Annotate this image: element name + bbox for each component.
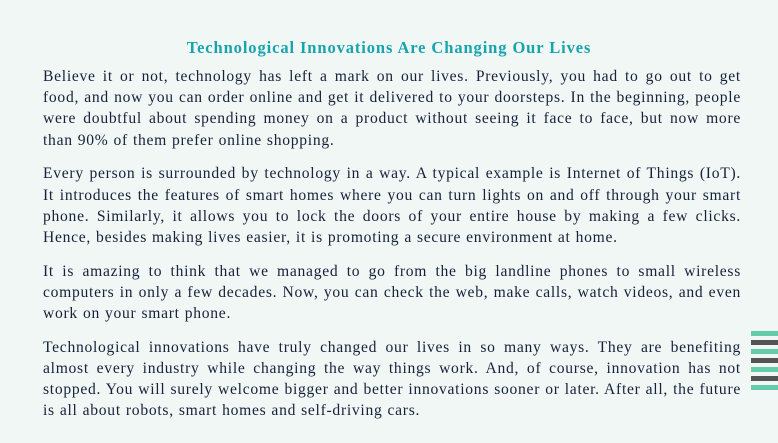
paragraph-3: It is amazing to think that we managed t… xyxy=(43,261,741,325)
stripe-5 xyxy=(751,367,778,372)
stripe-1 xyxy=(751,331,778,336)
article-page: Technological Innovations Are Changing O… xyxy=(0,0,778,443)
page-title: Technological Innovations Are Changing O… xyxy=(0,38,778,58)
stripe-7 xyxy=(751,385,778,390)
paragraph-4: Technological innovations have truly cha… xyxy=(43,337,741,422)
article-body: Believe it or not, technology has left a… xyxy=(43,66,741,422)
paragraph-2: Every person is surrounded by technology… xyxy=(43,163,741,248)
stripe-6 xyxy=(751,376,778,381)
stripe-4 xyxy=(751,358,778,363)
paragraph-1: Believe it or not, technology has left a… xyxy=(43,66,741,151)
striped-corner-ornament xyxy=(751,331,778,388)
stripe-2 xyxy=(751,340,778,345)
stripe-3 xyxy=(751,349,778,354)
